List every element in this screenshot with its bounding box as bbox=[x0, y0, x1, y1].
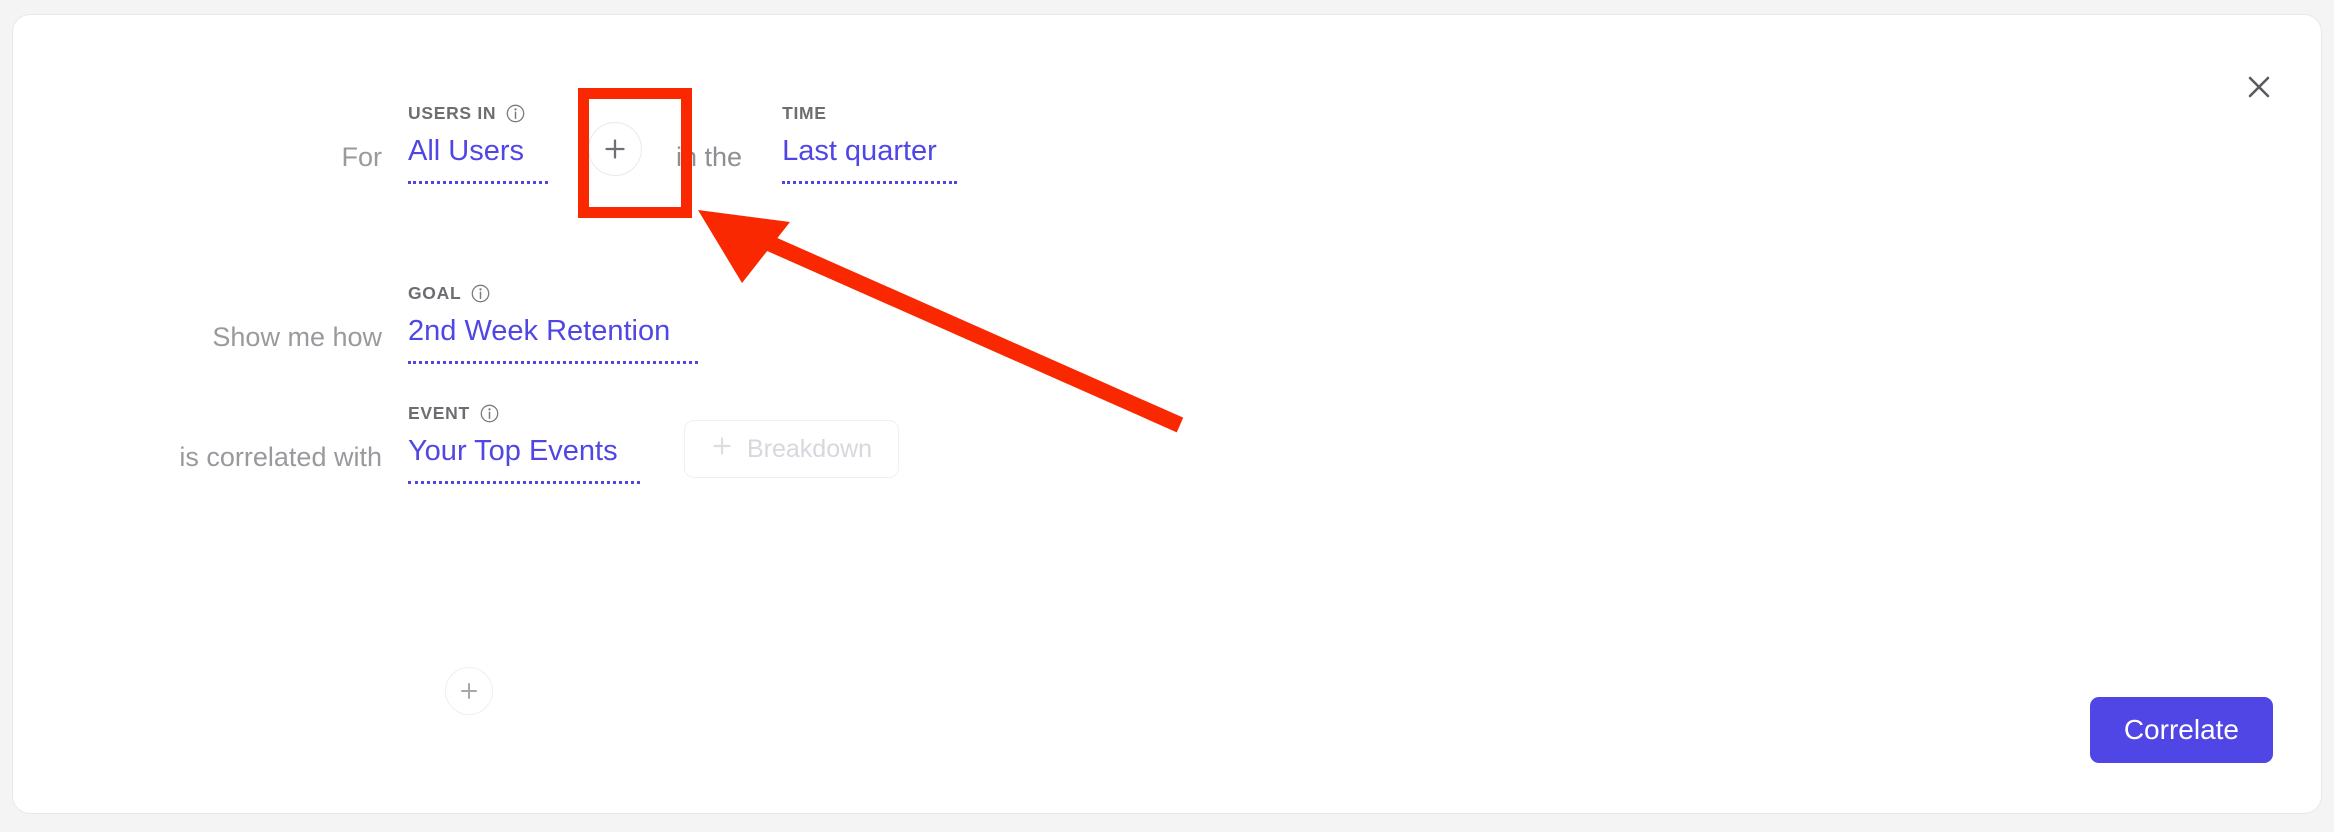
row-connector-in-the: in the bbox=[676, 142, 742, 184]
builder-row-event: is correlated with EVENT Your Top Event bbox=[13, 403, 899, 484]
field-value-time[interactable]: Last quarter bbox=[782, 134, 957, 184]
field-label-text: USERS IN bbox=[408, 103, 496, 124]
builder-row-users: For USERS IN All Users bbox=[13, 103, 957, 184]
field-label-text: EVENT bbox=[408, 403, 470, 424]
field-label-text: GOAL bbox=[408, 283, 461, 304]
field-value-goal[interactable]: 2nd Week Retention bbox=[408, 314, 698, 364]
info-icon[interactable] bbox=[471, 284, 490, 303]
field-label-goal: GOAL bbox=[408, 283, 490, 304]
breakdown-label: Breakdown bbox=[747, 435, 872, 464]
field-users-in: USERS IN All Users bbox=[408, 103, 548, 184]
screen-root: For USERS IN All Users bbox=[0, 0, 2334, 832]
field-value-event[interactable]: Your Top Events bbox=[408, 434, 640, 484]
close-icon[interactable] bbox=[2237, 65, 2281, 109]
plus-icon bbox=[711, 435, 733, 464]
field-label-users-in: USERS IN bbox=[408, 103, 525, 124]
breakdown-slot: Breakdown bbox=[684, 420, 899, 484]
field-time: TIME Last quarter bbox=[782, 103, 957, 184]
field-goal: GOAL 2nd Week Retention bbox=[408, 283, 698, 364]
field-label-time: TIME bbox=[782, 103, 827, 124]
correlation-builder-card: For USERS IN All Users bbox=[12, 14, 2322, 814]
info-icon[interactable] bbox=[480, 404, 499, 423]
row-phrase-is-correlated-with: is correlated with bbox=[13, 442, 408, 484]
field-label-text: TIME bbox=[782, 103, 827, 124]
info-icon[interactable] bbox=[506, 104, 525, 123]
add-cohort-plus-button[interactable] bbox=[588, 122, 642, 176]
field-event: EVENT Your Top Events bbox=[408, 403, 640, 484]
row-phrase-show-me-how: Show me how bbox=[13, 322, 408, 364]
builder-row-goal: Show me how GOAL 2nd Week Retention bbox=[13, 283, 698, 364]
add-cohort-slot bbox=[588, 122, 642, 184]
field-label-event: EVENT bbox=[408, 403, 499, 424]
correlate-button[interactable]: Correlate bbox=[2090, 697, 2273, 763]
row-phrase-for: For bbox=[13, 142, 408, 184]
add-step-button[interactable] bbox=[445, 667, 493, 715]
add-breakdown-button[interactable]: Breakdown bbox=[684, 420, 899, 478]
field-value-users-in[interactable]: All Users bbox=[408, 134, 548, 184]
